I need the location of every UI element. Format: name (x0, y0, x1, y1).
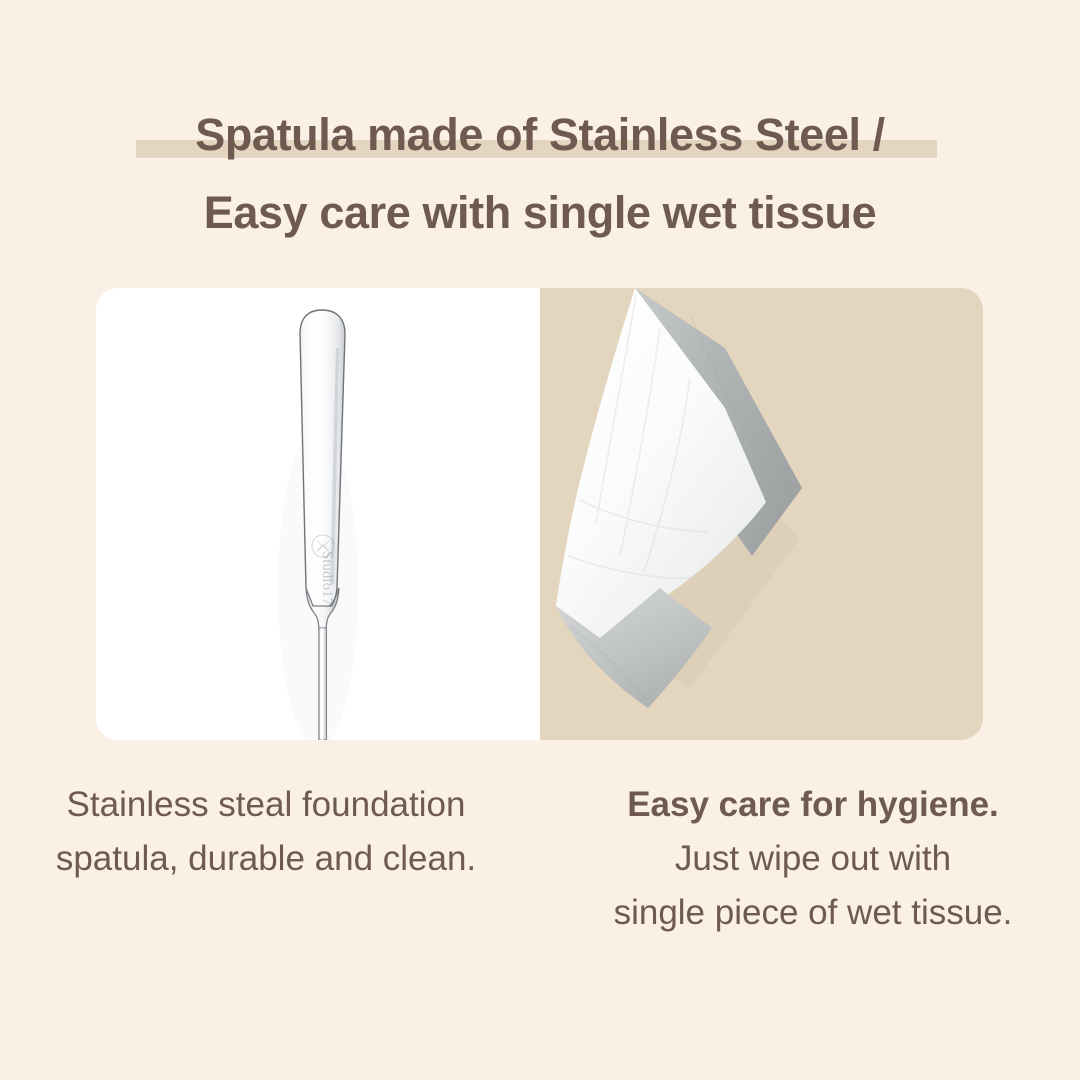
caption-left-line-2: spatula, durable and clean. (0, 832, 532, 886)
headline-line-1: Spatula made of Stainless Steel / (0, 96, 1080, 174)
wet-tissue-image (540, 288, 983, 740)
caption-right-line-2: Just wipe out with (546, 832, 1080, 886)
spatula-panel: Studio17 (96, 288, 540, 740)
caption-right: Easy care for hygiene. Just wipe out wit… (540, 778, 1080, 940)
product-image-card: Studio17 (96, 288, 983, 740)
spatula-handle-highlight (321, 628, 323, 740)
caption-right-line-3: single piece of wet tissue. (546, 886, 1080, 940)
headline-line-1-text: Spatula made of Stainless Steel / (195, 109, 885, 160)
caption-row: Stainless steal foundation spatula, dura… (0, 778, 1080, 940)
wet-tissue-panel (540, 288, 983, 740)
caption-left: Stainless steal foundation spatula, dura… (0, 778, 540, 940)
spatula-image: Studio17 (96, 288, 540, 740)
caption-left-line-1: Stainless steal foundation (0, 778, 532, 832)
caption-right-line-1: Easy care for hygiene. (546, 778, 1080, 832)
headline-line-2-text: Easy care with single wet tissue (204, 187, 876, 238)
spatula-brand-engraving: Studio17 (319, 551, 335, 606)
headline-line-2: Easy care with single wet tissue (0, 174, 1080, 252)
page-headline: Spatula made of Stainless Steel / Easy c… (0, 96, 1080, 252)
